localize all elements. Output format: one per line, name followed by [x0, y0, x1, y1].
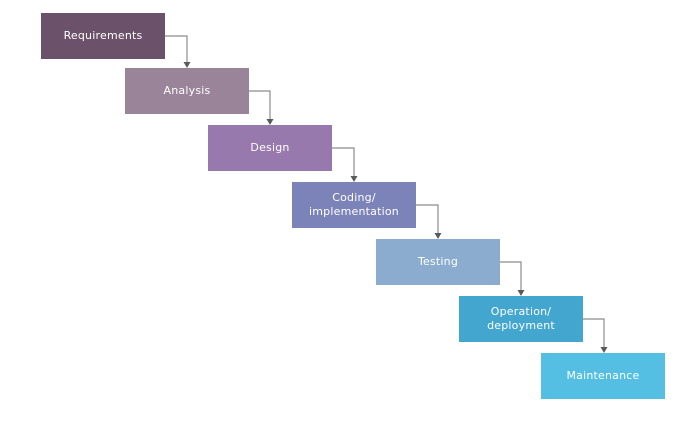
connector-line-design-to-coding: [332, 148, 354, 176]
connector-line-analysis-to-design: [249, 91, 270, 119]
connector-line-operation-to-maintenance: [583, 319, 604, 347]
connector-operation-to-maintenance: [583, 319, 608, 353]
connector-coding-to-testing: [416, 205, 442, 239]
phase-box-maintenance[interactable]: Maintenance: [541, 353, 665, 399]
waterfall-diagram: RequirementsAnalysisDesignCoding/ implem…: [0, 0, 700, 422]
connector-line-requirements-to-analysis: [165, 36, 187, 62]
phase-label-analysis: Analysis: [164, 84, 211, 98]
phase-label-operation-deployment: Operation/ deployment: [487, 305, 555, 333]
phase-box-coding-implementation[interactable]: Coding/ implementation: [292, 182, 416, 228]
connector-analysis-to-design: [249, 91, 274, 125]
connector-requirements-to-analysis: [165, 36, 191, 68]
connector-testing-to-operation: [500, 262, 525, 296]
phase-box-operation-deployment[interactable]: Operation/ deployment: [459, 296, 583, 342]
phase-box-design[interactable]: Design: [208, 125, 332, 171]
connector-line-testing-to-operation: [500, 262, 521, 290]
connector-line-coding-to-testing: [416, 205, 438, 233]
phase-box-analysis[interactable]: Analysis: [125, 68, 249, 114]
phase-label-coding-implementation: Coding/ implementation: [309, 191, 399, 219]
connector-design-to-coding: [332, 148, 358, 182]
phase-label-design: Design: [250, 141, 289, 155]
phase-label-testing: Testing: [418, 255, 458, 269]
phase-box-testing[interactable]: Testing: [376, 239, 500, 285]
phase-box-requirements[interactable]: Requirements: [41, 13, 165, 59]
phase-label-maintenance: Maintenance: [566, 369, 639, 383]
phase-label-requirements: Requirements: [64, 29, 143, 43]
